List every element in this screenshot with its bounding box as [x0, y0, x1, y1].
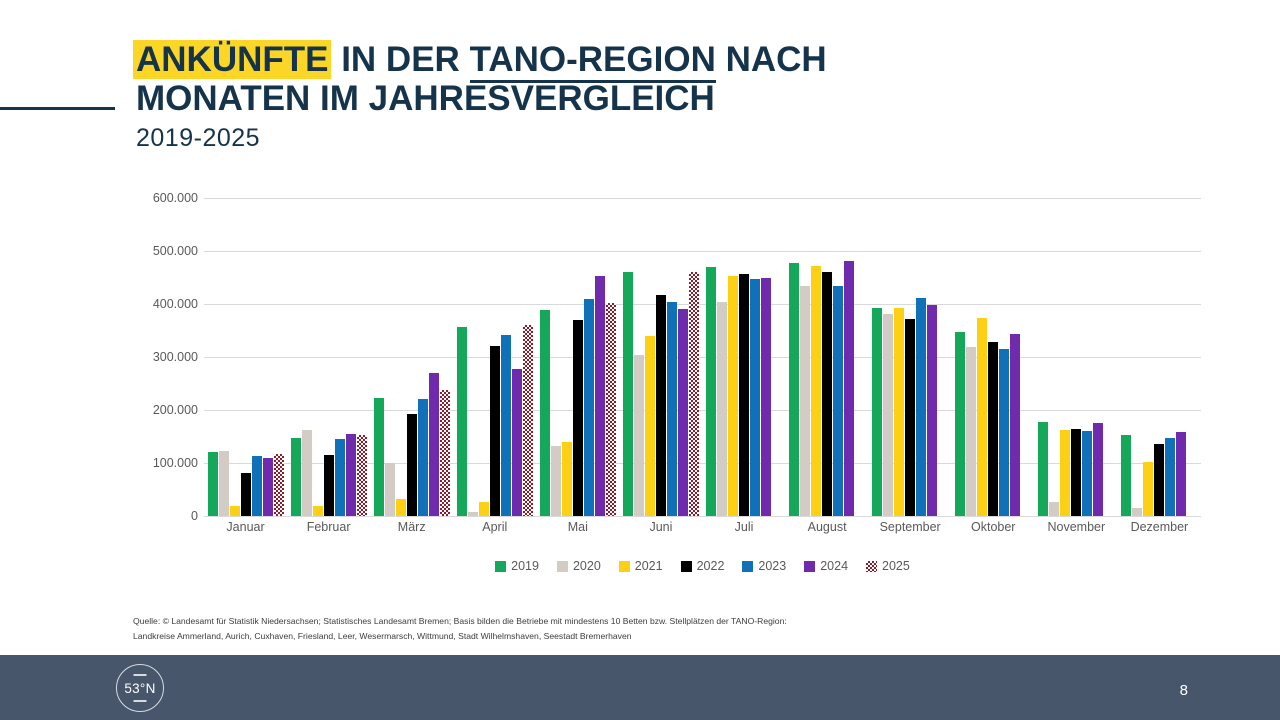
- bar-2024-februar: [346, 434, 356, 516]
- bar-2020-dezember: [1132, 508, 1142, 516]
- x-axis-tick-label: Januar: [204, 520, 287, 542]
- legend-swatch-icon: [804, 561, 815, 572]
- page-title-line-2: MONATEN IM JAHRESVERGLEICH: [136, 79, 1136, 118]
- plot-area: [204, 198, 1201, 516]
- bar-2025-april: [523, 325, 533, 516]
- header-accent-rule: [0, 107, 115, 110]
- bar-2023-januar: [252, 456, 262, 516]
- bar-2022-august: [822, 272, 832, 516]
- bar-2025-februar: [357, 435, 367, 516]
- bar-2022-april: [490, 346, 500, 516]
- bar-group: [453, 198, 536, 516]
- legend-swatch-icon: [619, 561, 630, 572]
- bar-2019-februar: [291, 438, 301, 516]
- bar-2021-oktober: [977, 318, 987, 516]
- bar-2019-august: [789, 263, 799, 516]
- bar-2022-juli: [739, 274, 749, 516]
- y-axis-labels: 600.000500.000400.000300.000200.000100.0…: [136, 198, 198, 516]
- bar-2022-oktober: [988, 342, 998, 516]
- y-axis-tick-label: 500.000: [153, 244, 198, 258]
- bar-group: [952, 198, 1035, 516]
- bar-2024-november: [1093, 423, 1103, 516]
- bar-2021-märz: [396, 499, 406, 516]
- bar-2023-juli: [750, 279, 760, 516]
- logo-dash-top-icon: [134, 674, 147, 676]
- bar-2025-mai: [606, 303, 616, 516]
- legend-label: 2025: [882, 559, 910, 573]
- bar-2019-märz: [374, 398, 384, 516]
- bar-2023-september: [916, 298, 926, 516]
- legend-item-2024[interactable]: 2024: [804, 559, 848, 573]
- bar-2023-november: [1082, 431, 1092, 516]
- bar-2024-juli: [761, 278, 771, 517]
- bar-2022-juni: [656, 295, 666, 516]
- bar-group: [1118, 198, 1201, 516]
- bar-2021-juli: [728, 276, 738, 516]
- bar-2023-april: [501, 335, 511, 516]
- bar-group: [204, 198, 287, 516]
- bar-2023-oktober: [999, 349, 1009, 516]
- bar-2023-august: [833, 286, 843, 516]
- bar-group: [287, 198, 370, 516]
- bar-2024-oktober: [1010, 334, 1020, 516]
- bar-2021-april: [479, 502, 489, 516]
- title-rest-1: IN DER: [331, 40, 469, 79]
- title-rest-2: NACH: [716, 40, 827, 79]
- page-number: 8: [1180, 682, 1188, 699]
- bar-group: [370, 198, 453, 516]
- bar-2022-januar: [241, 473, 251, 516]
- y-axis-tick-label: 300.000: [153, 350, 198, 364]
- x-axis-tick-label: April: [453, 520, 536, 542]
- legend-item-2025[interactable]: 2025: [866, 559, 910, 573]
- legend-swatch-icon: [495, 561, 506, 572]
- bar-2019-juni: [623, 272, 633, 516]
- title-highlight: ANKÜNFTE: [133, 40, 331, 79]
- bar-2019-september: [872, 308, 882, 516]
- bar-2020-juni: [634, 355, 644, 516]
- legend-label: 2020: [573, 559, 601, 573]
- bar-2025-juni: [689, 272, 699, 516]
- legend-item-2020[interactable]: 2020: [557, 559, 601, 573]
- legend-swatch-icon: [557, 561, 568, 572]
- bar-2020-oktober: [966, 347, 976, 516]
- bar-2021-mai: [562, 442, 572, 516]
- bar-2019-november: [1038, 422, 1048, 516]
- bar-2022-november: [1071, 429, 1081, 516]
- title-block: ANKÜNFTE IN DER TANO-REGION NACH MONATEN…: [136, 40, 1136, 153]
- y-axis-tick-label: 400.000: [153, 297, 198, 311]
- bar-2020-juli: [717, 302, 727, 516]
- legend-item-2019[interactable]: 2019: [495, 559, 539, 573]
- page-subtitle: 2019-2025: [136, 124, 1136, 153]
- bar-2021-juni: [645, 336, 655, 516]
- bar-2020-august: [800, 286, 810, 516]
- bar-group: [869, 198, 952, 516]
- bar-2019-mai: [540, 310, 550, 516]
- bar-2024-august: [844, 261, 854, 516]
- x-axis-tick-label: November: [1035, 520, 1118, 542]
- bar-2024-september: [927, 305, 937, 516]
- y-axis-tick-label: 0: [191, 509, 198, 523]
- bar-2024-mai: [595, 276, 605, 516]
- bar-2021-dezember: [1143, 462, 1153, 516]
- legend-label: 2022: [697, 559, 725, 573]
- bar-2022-märz: [407, 414, 417, 516]
- bar-2021-september: [894, 308, 904, 516]
- bar-2020-november: [1049, 502, 1059, 516]
- title-underlined: TANO-REGION: [470, 40, 716, 83]
- bar-2019-april: [457, 327, 467, 516]
- x-axis-tick-label: Februar: [287, 520, 370, 542]
- bar-2020-september: [883, 314, 893, 516]
- gridline: [204, 516, 1201, 517]
- bar-2022-dezember: [1154, 444, 1164, 516]
- bar-2021-november: [1060, 430, 1070, 516]
- x-axis-tick-label: März: [370, 520, 453, 542]
- bar-2024-april: [512, 369, 522, 516]
- x-axis-tick-label: Juni: [619, 520, 702, 542]
- bar-2020-märz: [385, 463, 395, 516]
- logo-label: 53°N: [124, 681, 155, 696]
- bar-group: [786, 198, 869, 516]
- bar-2021-januar: [230, 506, 240, 516]
- x-axis-labels: JanuarFebruarMärzAprilMaiJuniJuliAugustS…: [204, 520, 1201, 542]
- source-line-2: Landkreise Ammerland, Aurich, Cuxhaven, …: [133, 629, 1073, 644]
- bar-2023-märz: [418, 399, 428, 516]
- legend-swatch-icon: [742, 561, 753, 572]
- source-note: Quelle: © Landesamt für Statistik Nieder…: [133, 614, 1073, 644]
- page-title-line-1: ANKÜNFTE IN DER TANO-REGION NACH: [136, 40, 1136, 79]
- legend-item-2021[interactable]: 2021: [619, 559, 663, 573]
- bar-2020-mai: [551, 446, 561, 516]
- legend-item-2022[interactable]: 2022: [681, 559, 725, 573]
- logo-53n: 53°N: [116, 664, 164, 712]
- bar-2019-dezember: [1121, 435, 1131, 516]
- bar-group: [1035, 198, 1118, 516]
- bar-2021-februar: [313, 506, 323, 516]
- chart-legend: 2019202020212022202320242025: [204, 556, 1201, 576]
- y-axis-tick-label: 200.000: [153, 403, 198, 417]
- bar-group: [536, 198, 619, 516]
- logo-dash-bottom-icon: [134, 700, 147, 702]
- bar-group: [619, 198, 702, 516]
- x-axis-tick-label: Dezember: [1118, 520, 1201, 542]
- bar-2023-juni: [667, 302, 677, 516]
- x-axis-tick-label: Oktober: [952, 520, 1035, 542]
- legend-swatch-icon: [681, 561, 692, 572]
- bar-2024-juni: [678, 309, 688, 516]
- legend-label: 2023: [758, 559, 786, 573]
- legend-label: 2024: [820, 559, 848, 573]
- bar-2020-februar: [302, 430, 312, 516]
- bar-2023-mai: [584, 299, 594, 516]
- bar-chart: 600.000500.000400.000300.000200.000100.0…: [136, 198, 1201, 588]
- bar-2025-märz: [440, 390, 450, 516]
- bar-2023-februar: [335, 439, 345, 516]
- bar-2019-juli: [706, 267, 716, 516]
- bar-2024-dezember: [1176, 432, 1186, 516]
- bar-2020-april: [468, 512, 478, 516]
- footer-bar: [0, 655, 1280, 720]
- bar-2022-februar: [324, 455, 334, 516]
- bar-2022-mai: [573, 320, 583, 516]
- y-axis-tick-label: 600.000: [153, 191, 198, 205]
- bar-2020-januar: [219, 451, 229, 516]
- bar-2022-september: [905, 319, 915, 516]
- x-axis-tick-label: September: [869, 520, 952, 542]
- legend-label: 2021: [635, 559, 663, 573]
- bar-2019-oktober: [955, 332, 965, 516]
- legend-label: 2019: [511, 559, 539, 573]
- legend-item-2023[interactable]: 2023: [742, 559, 786, 573]
- bar-2024-märz: [429, 373, 439, 516]
- legend-swatch-icon: [866, 561, 877, 572]
- bar-2025-januar: [274, 454, 284, 516]
- bar-2021-august: [811, 266, 821, 516]
- y-axis-tick-label: 100.000: [153, 456, 198, 470]
- bar-2019-januar: [208, 452, 218, 516]
- x-axis-tick-label: August: [786, 520, 869, 542]
- bar-2023-dezember: [1165, 438, 1175, 516]
- bars-layer: [204, 198, 1201, 516]
- bar-2024-januar: [263, 458, 273, 516]
- bar-group: [702, 198, 785, 516]
- x-axis-tick-label: Juli: [702, 520, 785, 542]
- x-axis-tick-label: Mai: [536, 520, 619, 542]
- source-line-1: Quelle: © Landesamt für Statistik Nieder…: [133, 614, 1073, 629]
